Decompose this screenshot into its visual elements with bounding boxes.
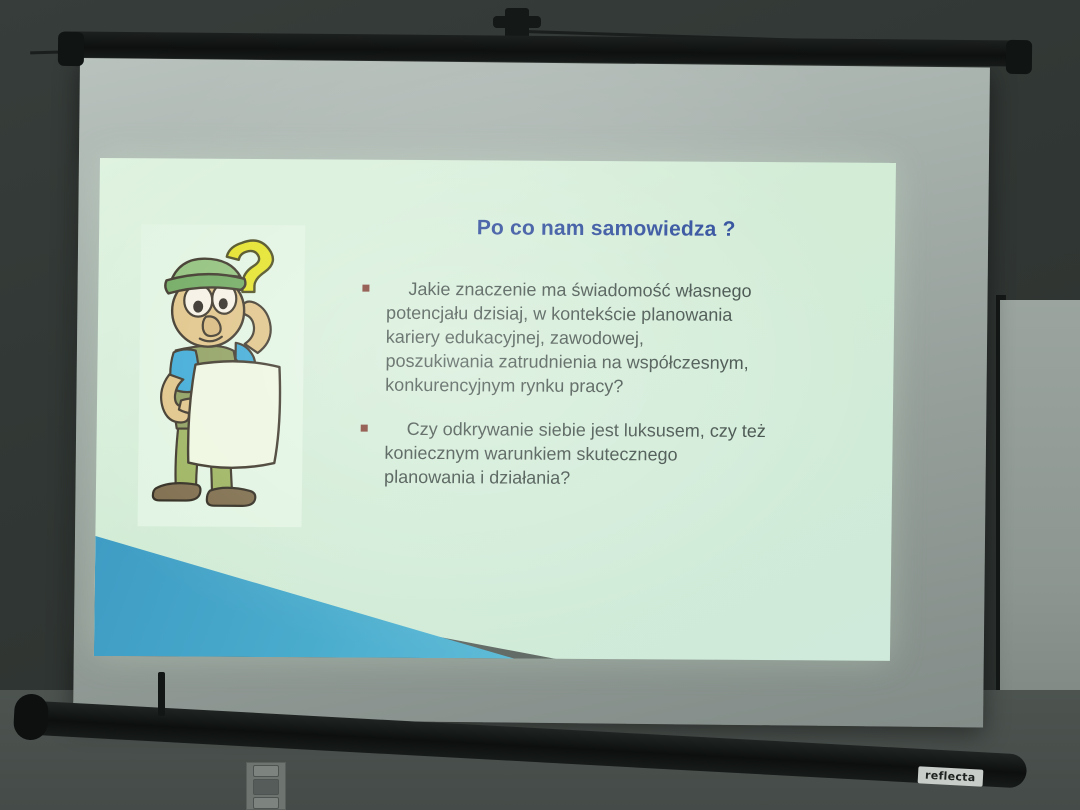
slide-bullet-item: Czy odkrywanie siebie jest luksusem, czy… bbox=[354, 417, 867, 492]
device-brand-label: reflecta bbox=[918, 766, 983, 786]
screen-case-cap-left bbox=[58, 32, 84, 66]
slide-bullet-item: Jakie znaczenie ma świadomość własnego p… bbox=[355, 278, 868, 401]
slide-bullet-list: Jakie znaczenie ma świadomość własnego p… bbox=[354, 278, 869, 513]
slide-title: Po co nam samowiedza ? bbox=[391, 216, 821, 243]
bullet-text: Czy odkrywanie siebie jest luksusem, czy… bbox=[384, 417, 867, 492]
screen-case-cap-right bbox=[1006, 40, 1032, 74]
screen-bottom-bar-cap bbox=[13, 693, 49, 741]
outlet-socket-top bbox=[253, 765, 279, 777]
outlet-socket-middle bbox=[253, 779, 279, 794]
bullet-marker-icon bbox=[361, 424, 368, 431]
wall-outlet-plate bbox=[246, 762, 286, 810]
bullet-marker-icon bbox=[362, 285, 369, 292]
outlet-socket-bottom bbox=[253, 797, 279, 809]
screen-pull-handle[interactable] bbox=[158, 672, 165, 716]
screenshot-stage: Po co nam samowiedza ? Jakie znaczenie m… bbox=[0, 0, 1080, 810]
puzzled-man-with-paper-icon bbox=[138, 224, 306, 527]
projected-slide: Po co nam samowiedza ? Jakie znaczenie m… bbox=[94, 158, 896, 661]
slide-illustration-panel bbox=[138, 224, 306, 527]
bullet-text: Jakie znaczenie ma świadomość własnego p… bbox=[385, 278, 868, 401]
